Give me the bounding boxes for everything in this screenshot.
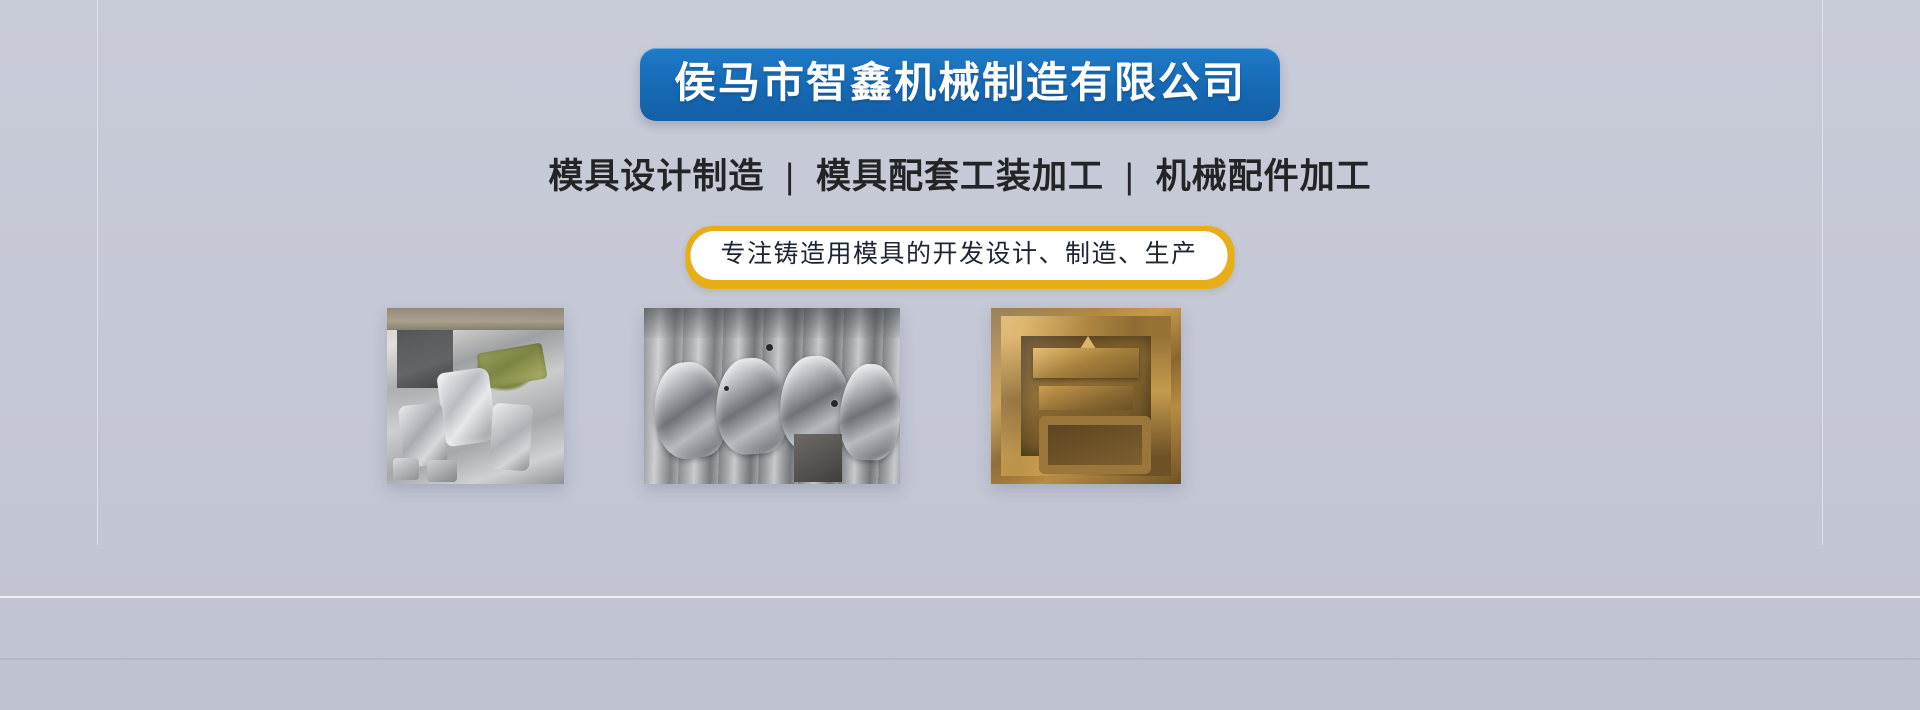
product-photo-gallery — [0, 308, 1920, 498]
product-photo-bronze-frame-mould[interactable] — [991, 308, 1181, 484]
service-item-3: 机械配件加工 — [1156, 157, 1372, 196]
banner-content: 侯马市智鑫机械制造有限公司 模具设计制造 | 模具配套工装加工 | 机械配件加工… — [0, 0, 1920, 710]
tagline-badge-inner: 专注铸造用模具的开发设计、制造、生产 — [690, 231, 1227, 280]
mould-bore-1 — [766, 344, 773, 351]
product-photo-aluminium-die-mould[interactable] — [387, 308, 564, 484]
mould-pin-2 — [427, 460, 457, 482]
mould-pin-1 — [393, 458, 419, 480]
banner-stage: 侯马市智鑫机械制造有限公司 模具设计制造 | 模具配套工装加工 | 机械配件加工… — [0, 0, 1920, 710]
mould-boss-a — [436, 367, 498, 448]
mould-bore-3 — [724, 386, 729, 391]
product-photo-2-image — [644, 308, 900, 484]
mould-gloss-overlay — [991, 308, 1181, 484]
mould-side-block — [794, 434, 842, 482]
mould-top-shadow — [644, 308, 900, 338]
company-name-text: 侯马市智鑫机械制造有限公司 — [674, 59, 1246, 106]
mould-vane-4 — [838, 363, 900, 461]
product-photo-steel-vane-mould[interactable] — [644, 308, 900, 484]
mould-boss-c — [489, 403, 534, 472]
services-subtitle: 模具设计制造 | 模具配套工装加工 | 机械配件加工 — [548, 156, 1371, 198]
company-name-badge: 侯马市智鑫机械制造有限公司 — [640, 48, 1280, 121]
product-photo-1-image — [387, 308, 564, 484]
service-separator-2: | — [1115, 157, 1145, 196]
service-separator-1: | — [775, 157, 805, 196]
mould-bore-2 — [831, 400, 838, 407]
service-item-1: 模具设计制造 — [548, 157, 764, 196]
tagline-text: 专注铸造用模具的开发设计、制造、生产 — [720, 240, 1197, 268]
product-photo-3-image — [991, 308, 1181, 484]
tagline-badge: 专注铸造用模具的开发设计、制造、生产 — [685, 226, 1234, 289]
mould-top-band — [387, 308, 564, 330]
service-item-2: 模具配套工装加工 — [816, 157, 1104, 196]
